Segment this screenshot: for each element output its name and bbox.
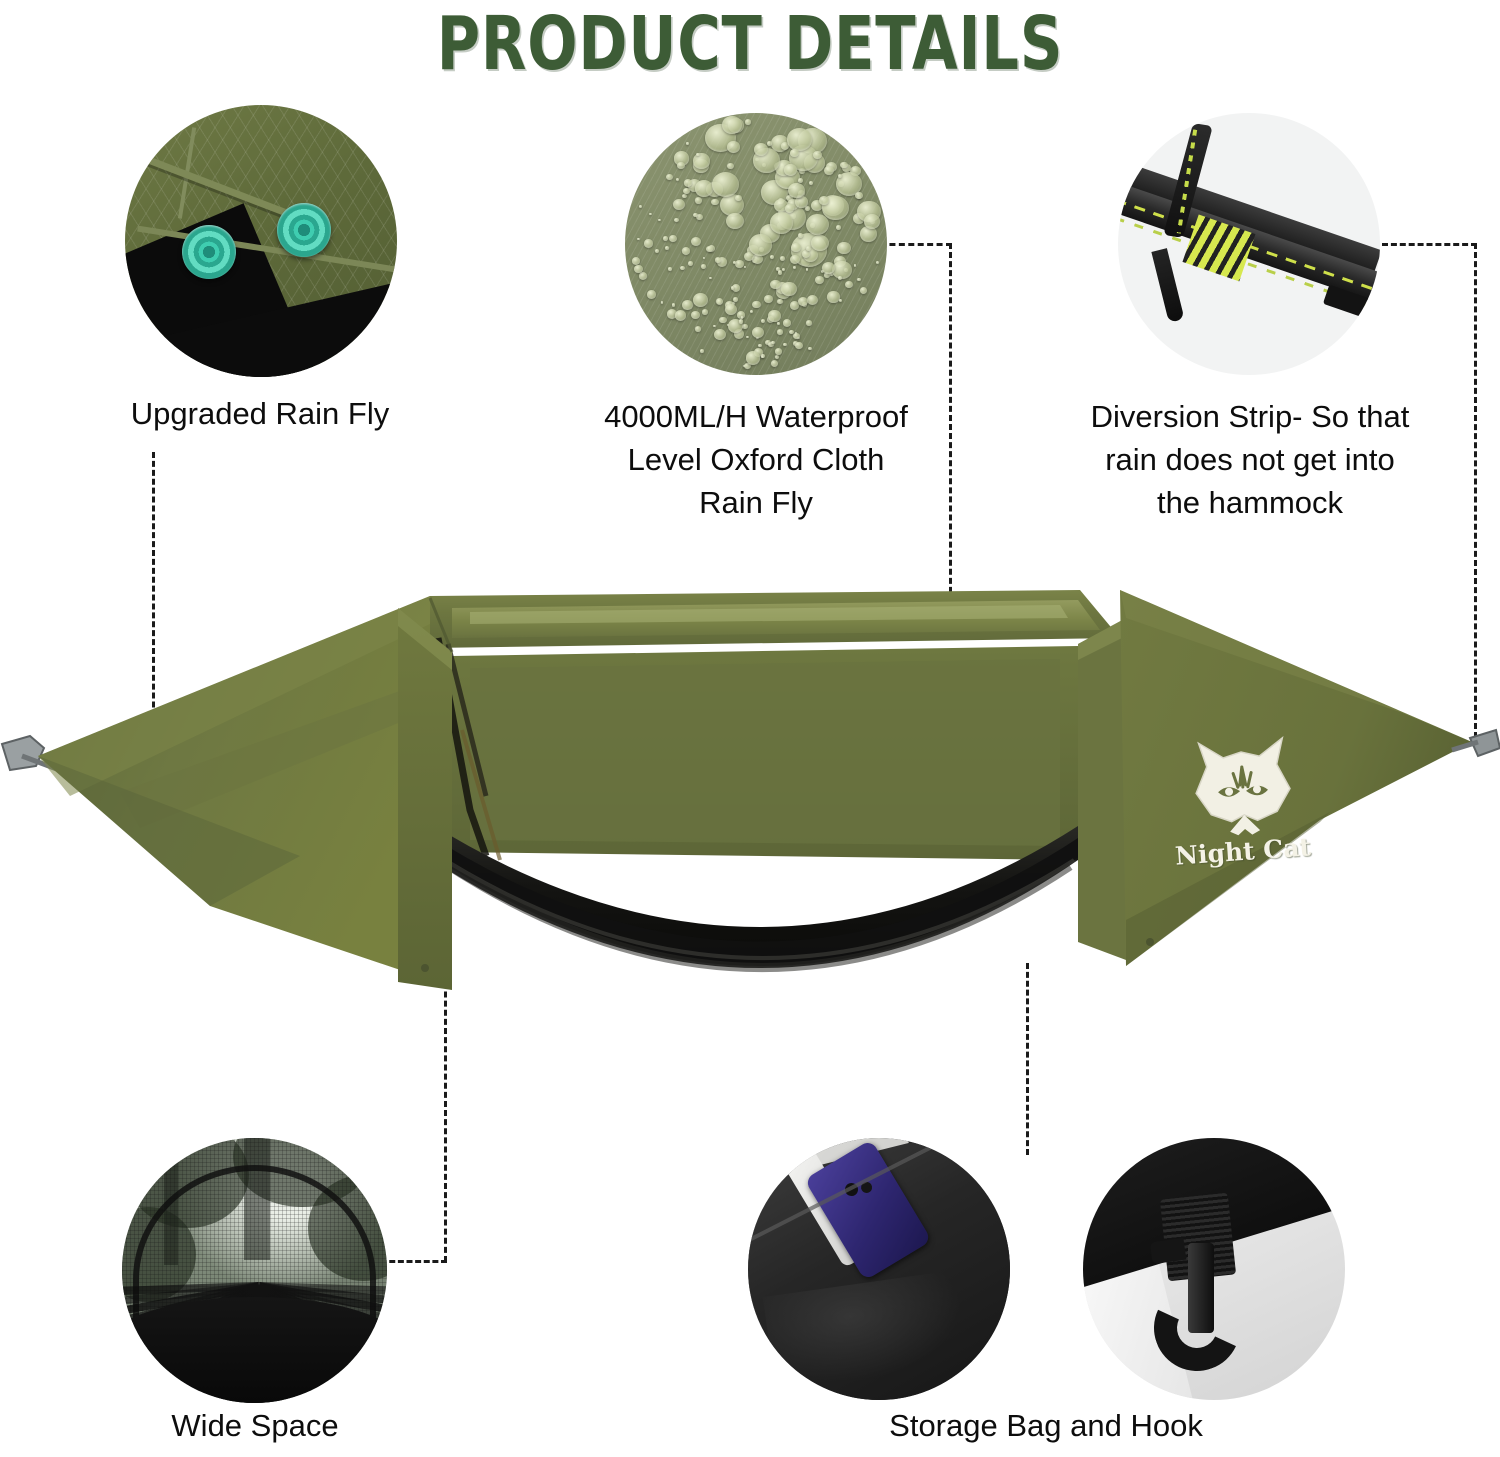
water-droplet-icon bbox=[695, 197, 702, 203]
water-droplet-icon bbox=[735, 195, 742, 201]
plastic-hook-photo bbox=[1083, 1138, 1345, 1400]
infographic-page: PRODUCT DETAILS Upgraded Rain Fly bbox=[0, 0, 1500, 1457]
water-droplet-icon bbox=[709, 277, 712, 279]
water-droplet-icon bbox=[674, 218, 678, 222]
water-droplet-icon bbox=[676, 178, 679, 181]
water-droplet-icon bbox=[649, 213, 652, 215]
product-illustration bbox=[0, 560, 1500, 1060]
water-droplet-icon bbox=[808, 347, 812, 350]
water-droplet-icon bbox=[716, 298, 723, 305]
water-droplet-icon bbox=[795, 342, 802, 349]
water-droplet-icon bbox=[824, 166, 834, 175]
water-droplet-icon bbox=[637, 238, 640, 240]
water-droplet-icon bbox=[731, 286, 735, 289]
interior-space-photo bbox=[122, 1138, 387, 1403]
page-title: PRODUCT DETAILS bbox=[150, 4, 1350, 84]
water-droplet-icon bbox=[744, 252, 754, 261]
water-droplet-icon bbox=[767, 141, 772, 145]
water-droplet-icon bbox=[683, 188, 690, 194]
water-droplet-icon bbox=[811, 235, 828, 251]
water-droplet-icon bbox=[711, 199, 718, 206]
water-droplet-icon bbox=[727, 141, 740, 153]
water-droplet-icon bbox=[770, 280, 781, 290]
water-droplet-icon bbox=[784, 164, 797, 176]
connector-diversion-horizontal bbox=[1382, 243, 1477, 246]
snap-buttons-photo bbox=[125, 105, 397, 377]
caption-storage-bag-and-hook: Storage Bag and Hook bbox=[846, 1404, 1246, 1447]
water-droplet-icon bbox=[777, 299, 783, 304]
water-droplet-icon bbox=[783, 319, 791, 327]
thumb-diversion-strip[interactable] bbox=[1118, 113, 1380, 375]
water-droplet-icon bbox=[714, 329, 726, 340]
water-droplet-icon bbox=[632, 257, 640, 264]
water-droplet-icon bbox=[809, 181, 813, 185]
water-droplet-icon bbox=[673, 199, 685, 210]
water-droplet-icon bbox=[741, 316, 744, 318]
water-droplet-icon bbox=[806, 214, 829, 235]
water-droplet-icon bbox=[639, 205, 642, 208]
caption-diversion-strip: Diversion Strip- So that rain does not g… bbox=[1050, 395, 1450, 524]
water-droplet-icon bbox=[701, 264, 706, 269]
water-droplet-icon bbox=[806, 320, 813, 326]
water-droplet-icon bbox=[806, 246, 811, 251]
water-droplet-icon bbox=[725, 304, 737, 315]
water-droplet-icon bbox=[770, 212, 793, 233]
connector-waterproof-horizontal bbox=[880, 243, 952, 246]
water-droplet-icon bbox=[686, 142, 689, 144]
water-droplet-icon bbox=[782, 268, 785, 271]
water-droplet-icon bbox=[819, 196, 828, 205]
snap-button-icon bbox=[182, 225, 236, 279]
water-droplet-icon bbox=[758, 344, 762, 347]
thumb-storage-bag[interactable] bbox=[748, 1138, 1010, 1400]
water-droplet-icon bbox=[864, 214, 880, 228]
water-droplet-icon bbox=[752, 327, 764, 338]
water-droplet-icon bbox=[726, 213, 744, 229]
caption-upgraded-rain-fly: Upgraded Rain Fly bbox=[60, 392, 460, 435]
water-droplet-icon bbox=[790, 149, 799, 157]
left-side-panel bbox=[398, 608, 452, 990]
water-droplet-icon bbox=[793, 333, 800, 339]
water-droplet-icon bbox=[813, 151, 822, 159]
water-droplet-icon bbox=[693, 153, 709, 168]
water-droplet-icon bbox=[793, 266, 796, 268]
water-droplet-icon bbox=[695, 326, 701, 332]
water-droplet-icon bbox=[712, 172, 739, 197]
water-droplet-icon bbox=[672, 303, 675, 306]
water-droplet-icon bbox=[644, 239, 653, 248]
right-side-panel bbox=[1078, 618, 1126, 960]
water-droplet-icon bbox=[727, 163, 733, 169]
water-droplet-icon bbox=[780, 256, 785, 261]
water-droplet-icon bbox=[655, 249, 660, 253]
thumb-waterproof-oxford-cloth[interactable] bbox=[625, 113, 887, 375]
water-droplet-icon bbox=[785, 204, 794, 213]
water-droplet-icon bbox=[693, 293, 708, 307]
water-droplet-icon bbox=[781, 282, 796, 296]
water-droplet-icon bbox=[815, 276, 824, 284]
water-droplet-icon bbox=[749, 234, 773, 256]
water-droplet-icon bbox=[733, 261, 736, 264]
water-droplet-icon bbox=[838, 276, 842, 280]
water-droplet-icon bbox=[675, 310, 686, 320]
water-droplet-icon bbox=[775, 348, 782, 354]
water-droplet-icon bbox=[791, 243, 801, 252]
water-droplet-icon bbox=[768, 310, 780, 321]
water-droplet-icon bbox=[840, 162, 847, 169]
caption-waterproof-oxford-cloth: 4000ML/H Waterproof Level Oxford Cloth R… bbox=[556, 395, 956, 524]
water-droplet-icon bbox=[783, 343, 786, 346]
water-droplet-icon bbox=[752, 301, 760, 309]
water-droplet-icon bbox=[788, 183, 805, 198]
water-droplet-icon bbox=[693, 213, 698, 217]
water-droplet-icon bbox=[706, 246, 713, 252]
water-droplet-icon bbox=[777, 322, 779, 324]
water-droplet-icon bbox=[827, 291, 839, 302]
snap-button-icon bbox=[277, 203, 331, 257]
water-droplet-icon bbox=[854, 264, 857, 266]
water-droplet-icon bbox=[691, 311, 700, 319]
water-droplet-icon bbox=[647, 290, 656, 298]
water-droplet-icon bbox=[668, 267, 672, 270]
thumb-hook[interactable] bbox=[1083, 1138, 1345, 1400]
diversion-strap-photo bbox=[1118, 113, 1380, 375]
water-droplet-icon bbox=[722, 116, 742, 134]
water-droplet-icon bbox=[860, 287, 867, 294]
water-droplet-icon bbox=[777, 329, 783, 335]
storage-pocket-photo bbox=[748, 1138, 1010, 1400]
water-droplet-icon bbox=[682, 300, 692, 310]
water-droplet-icon bbox=[719, 317, 726, 324]
water-droplet-icon bbox=[764, 295, 773, 303]
water-droplet-icon bbox=[700, 349, 704, 353]
water-droplet-icon bbox=[715, 257, 722, 263]
water-droplet-icon bbox=[713, 325, 716, 328]
water-droplet-icon bbox=[855, 192, 862, 199]
water-droplet-icon bbox=[746, 351, 761, 365]
water-beading-photo bbox=[625, 113, 887, 375]
thumb-upgraded-rain-fly[interactable] bbox=[125, 105, 397, 377]
water-droplet-icon bbox=[669, 235, 677, 243]
thumb-wide-space[interactable] bbox=[122, 1138, 387, 1403]
water-droplet-icon bbox=[761, 319, 765, 323]
water-droplet-icon bbox=[778, 270, 783, 274]
caption-wide-space: Wide Space bbox=[55, 1404, 455, 1447]
water-droplet-icon bbox=[745, 119, 751, 124]
water-droplet-icon bbox=[807, 295, 818, 305]
water-droplet-icon bbox=[787, 128, 811, 150]
water-droplet-icon bbox=[739, 319, 744, 323]
water-droplet-icon bbox=[795, 196, 807, 207]
water-droplet-icon bbox=[798, 233, 803, 238]
water-droplet-icon bbox=[677, 162, 684, 169]
water-droplet-icon bbox=[836, 225, 841, 230]
water-droplet-icon bbox=[695, 180, 713, 196]
